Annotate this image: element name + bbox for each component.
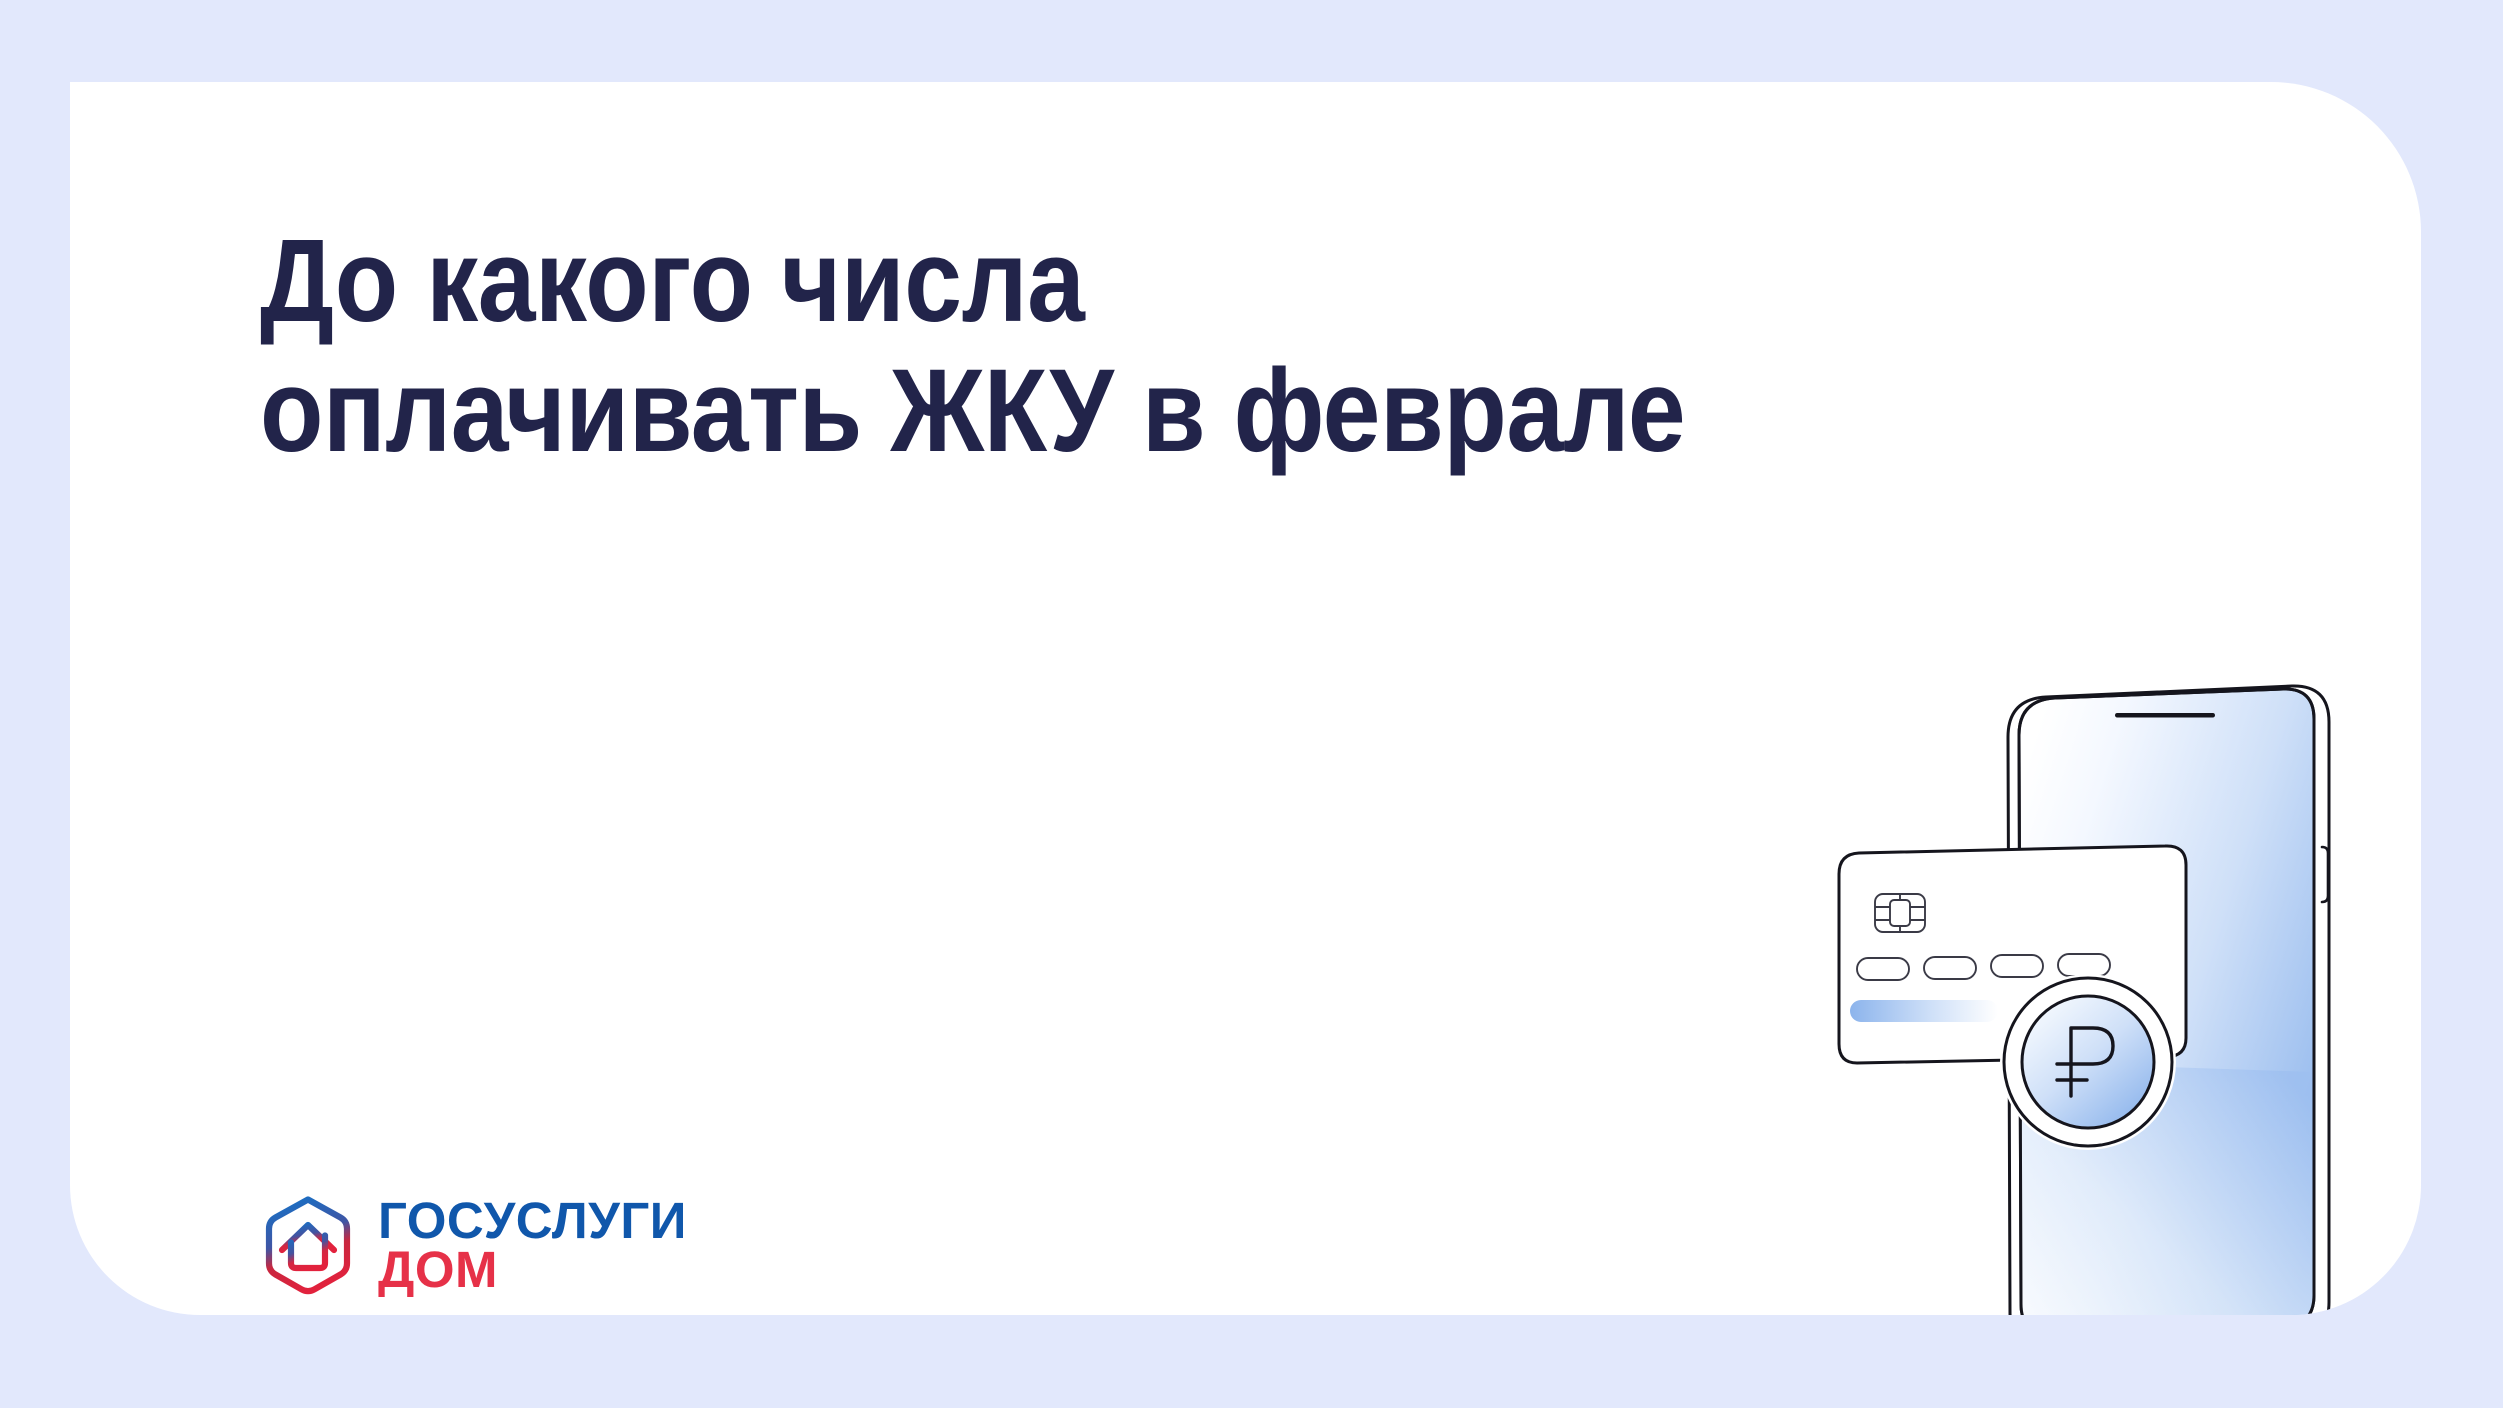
brand-word-dom: ДОМ bbox=[378, 1246, 687, 1295]
brand-wordmark: ГОСУСЛУГИ ДОМ bbox=[378, 1197, 687, 1295]
white-content-card: До какого числа оплачивать ЖКУ в феврале bbox=[70, 82, 2421, 1315]
house-hexagon-icon bbox=[256, 1194, 360, 1298]
payment-illustration bbox=[1805, 642, 2421, 1315]
headline-line-2: оплачивать ЖКУ в феврале bbox=[260, 352, 1774, 470]
poster-canvas: До какого числа оплачивать ЖКУ в феврале bbox=[0, 0, 2503, 1408]
brand-logo[interactable]: ГОСУСЛУГИ ДОМ bbox=[256, 1194, 687, 1298]
brand-word-gosuslugi: ГОСУСЛУГИ bbox=[378, 1197, 687, 1246]
phone-speaker-slot bbox=[2115, 713, 2215, 718]
headline-line-1: До какого числа bbox=[260, 222, 1774, 340]
card-stripe bbox=[1850, 1000, 1998, 1022]
page-title: До какого числа оплачивать ЖКУ в феврале bbox=[260, 222, 1774, 482]
ruble-coin bbox=[2000, 974, 2176, 1150]
